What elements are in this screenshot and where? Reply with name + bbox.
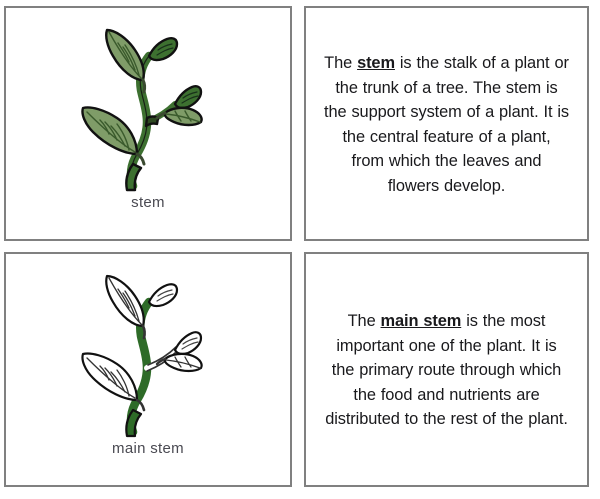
definition-lead-in: The <box>348 312 381 330</box>
stem-definition-text: The stem is the stalk of a plant or the … <box>324 51 569 198</box>
plant-stem-illustration <box>63 14 233 192</box>
stem-picture-label: stem <box>131 194 165 212</box>
definition-term: main stem <box>381 312 462 330</box>
definition-lead-in: The <box>324 54 357 72</box>
definition-body: is the stalk of a plant or the trunk of … <box>324 54 569 195</box>
stem-picture-card[interactable]: stem <box>4 6 292 241</box>
plant-main-stem-illustration <box>63 260 233 438</box>
main-stem-picture-card[interactable]: main stem <box>4 252 292 487</box>
stem-definition-card[interactable]: The stem is the stalk of a plant or the … <box>304 6 589 241</box>
definition-term: stem <box>357 54 395 72</box>
main-stem-definition-text: The main stem is the most important one … <box>324 309 569 432</box>
nomenclature-card-sheet: stem The stem is the stalk of a plant or… <box>0 0 600 499</box>
main-stem-definition-card[interactable]: The main stem is the most important one … <box>304 252 589 487</box>
main-stem-picture-label: main stem <box>112 440 184 458</box>
